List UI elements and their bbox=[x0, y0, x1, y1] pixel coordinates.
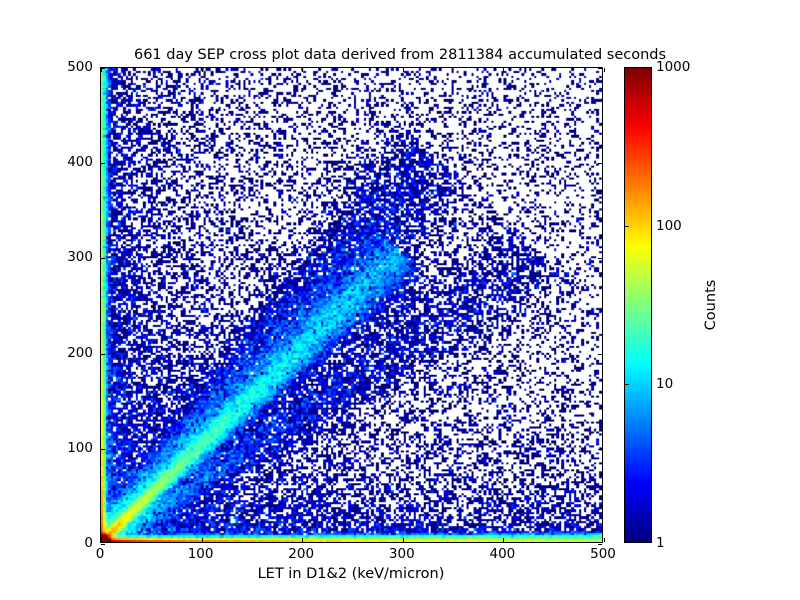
x-tick-label: 400 bbox=[490, 546, 516, 562]
y-tick bbox=[101, 544, 105, 545]
colorbar-tick bbox=[624, 384, 629, 385]
y-tick-label: 500 bbox=[67, 59, 93, 75]
y-tick-label: 300 bbox=[67, 249, 93, 265]
colorbar-tick-label: 1000 bbox=[656, 59, 690, 75]
colorbar-gradient bbox=[625, 68, 651, 542]
x-tick bbox=[604, 68, 605, 72]
y-tick-label: 200 bbox=[67, 345, 93, 361]
colorbar-tick bbox=[624, 226, 629, 227]
colorbar-label: Counts bbox=[703, 280, 719, 331]
y-tick bbox=[101, 163, 105, 164]
x-tick bbox=[503, 538, 504, 542]
x-tick bbox=[503, 68, 504, 72]
y-tick bbox=[101, 258, 105, 259]
x-tick bbox=[403, 538, 404, 542]
y-tick bbox=[598, 449, 602, 450]
y-tick bbox=[598, 163, 602, 164]
y-tick bbox=[101, 354, 105, 355]
x-tick-label: 500 bbox=[590, 546, 616, 562]
y-tick-label: 0 bbox=[84, 535, 93, 551]
figure-canvas: 661 day SEP cross plot data derived from… bbox=[0, 0, 800, 600]
x-tick bbox=[202, 538, 203, 542]
x-tick-label: 200 bbox=[288, 546, 314, 562]
colorbar-tick-label: 100 bbox=[656, 218, 682, 234]
y-tick bbox=[598, 544, 602, 545]
x-tick bbox=[101, 538, 102, 542]
x-tick bbox=[302, 68, 303, 72]
y-tick-label: 100 bbox=[67, 440, 93, 456]
colorbar-tick-label: 10 bbox=[656, 376, 673, 392]
y-tick bbox=[598, 258, 602, 259]
colorbar bbox=[624, 67, 652, 543]
x-axis-label: LET in D1&2 (keV/micron) bbox=[258, 566, 445, 582]
y-tick bbox=[598, 68, 602, 69]
x-tick bbox=[403, 68, 404, 72]
y-tick-label: 400 bbox=[67, 154, 93, 170]
y-tick bbox=[598, 354, 602, 355]
x-tick bbox=[202, 68, 203, 72]
x-tick-label: 300 bbox=[389, 546, 415, 562]
x-tick-label: 0 bbox=[96, 546, 105, 562]
y-tick bbox=[101, 68, 105, 69]
x-tick bbox=[302, 538, 303, 542]
x-tick bbox=[604, 538, 605, 542]
scatter-density-plot bbox=[101, 68, 602, 542]
y-tick bbox=[101, 449, 105, 450]
x-tick-label: 100 bbox=[188, 546, 214, 562]
colorbar-tick-label: 1 bbox=[656, 535, 665, 551]
plot-axes bbox=[100, 67, 603, 543]
